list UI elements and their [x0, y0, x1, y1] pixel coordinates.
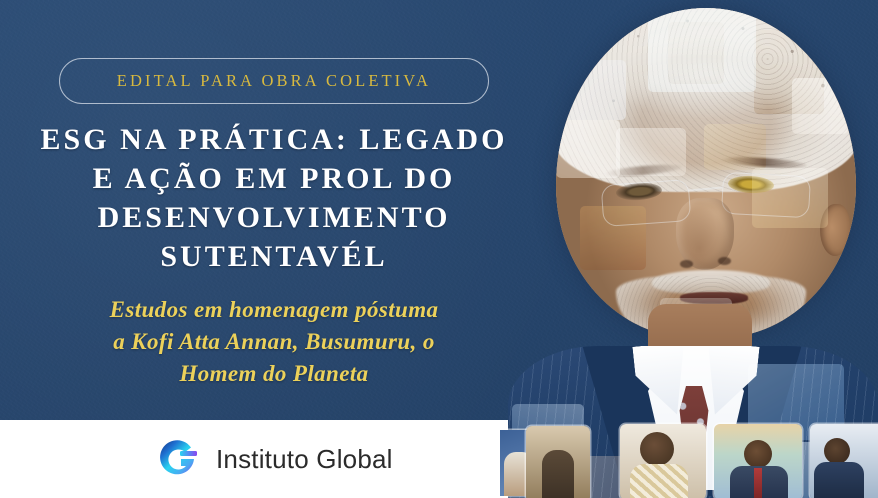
title-line-3: DESENVOLVIMENTO: [4, 198, 544, 237]
kofi-annan-portrait: [500, 0, 878, 498]
collage-photo: [526, 426, 590, 498]
portrait-nostril-right: [718, 257, 731, 265]
glasses-lens-right: [721, 172, 811, 219]
title-line-4: SUTENTAVÉL: [4, 237, 544, 276]
page-subtitle: Estudos em homenagem póstuma a Kofi Atta…: [14, 294, 534, 391]
text-block: EDITAL PARA OBRA COLETIVA ESG NA PRÁTICA…: [0, 0, 548, 391]
collage-photo: [810, 424, 878, 498]
portrait-nostril-left: [680, 260, 693, 268]
instituto-global-g-logo-icon: [152, 434, 202, 484]
collage-photo: [620, 424, 706, 498]
page-title: ESG NA PRÁTICA: LEGADO E AÇÃO EM PROL DO…: [4, 120, 544, 276]
title-line-1: ESG NA PRÁTICA: LEGADO: [4, 120, 544, 159]
brand-name: Instituto Global: [216, 444, 393, 475]
brand-logo: Instituto Global: [152, 434, 393, 484]
call-for-papers-badge: EDITAL PARA OBRA COLETIVA: [59, 58, 489, 104]
glasses-bridge: [688, 187, 722, 192]
collage-photo: [714, 424, 802, 498]
photo-collage-strip: [500, 412, 878, 498]
portrait-ear: [820, 204, 850, 256]
title-line-2: E AÇÃO EM PROL DO: [4, 159, 544, 198]
subtitle-line-3: Homem do Planeta: [14, 358, 534, 390]
portrait-head: [556, 8, 856, 338]
poster-canvas: EDITAL PARA OBRA COLETIVA ESG NA PRÁTICA…: [0, 0, 878, 498]
subtitle-line-2: a Kofi Atta Annan, Busumuru, o: [14, 326, 534, 358]
subtitle-line-1: Estudos em homenagem póstuma: [14, 294, 534, 326]
badge-label: EDITAL PARA OBRA COLETIVA: [117, 71, 431, 91]
